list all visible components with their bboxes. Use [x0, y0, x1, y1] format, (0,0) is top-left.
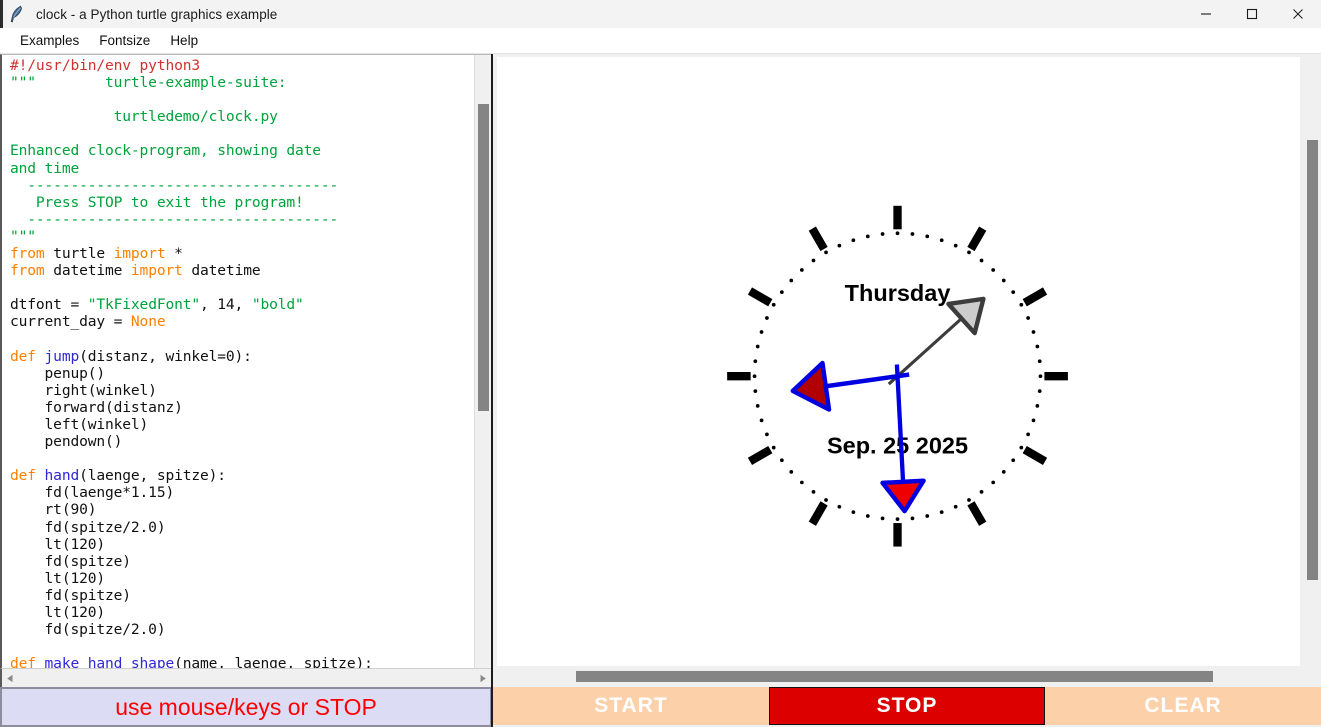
code-token: (laenge, spitze): [79, 467, 226, 484]
code-token: fd(spitze/2.0) [10, 621, 165, 638]
hour-hand-head [793, 363, 829, 410]
code-token: left(winkel) [10, 416, 148, 433]
minute-dot [954, 505, 958, 509]
hour-mark [971, 503, 983, 523]
stop-button[interactable]: STOP [769, 687, 1045, 725]
minute-dot [1019, 303, 1023, 307]
window-controls [1183, 0, 1321, 28]
code-token: penup() [10, 365, 105, 382]
minute-dot [1038, 359, 1042, 363]
minute-dot [1038, 389, 1042, 393]
clear-button[interactable]: CLEAR [1045, 687, 1321, 725]
code-token: fd(spitze/2.0) [10, 519, 165, 536]
code-token: "TkFixedFont" [88, 296, 200, 313]
code-vertical-scrollbar-thumb[interactable] [478, 104, 489, 411]
code-token: datetime [53, 262, 131, 279]
hour-mark [812, 229, 824, 249]
minute-dot [1026, 432, 1030, 436]
minute-hand-head [883, 481, 924, 511]
code-token: and time [10, 160, 79, 177]
code-token: pendown() [10, 433, 122, 450]
code-token: Press STOP to exit the program! [10, 194, 304, 211]
code-token: import [131, 262, 191, 279]
code-token: from [10, 245, 53, 262]
canvas-container: ThursdaySep. 25 2025 [491, 54, 1321, 666]
window-accent-stripe [0, 0, 3, 28]
weekday-label: Thursday [845, 280, 951, 306]
code-token: def [10, 348, 45, 365]
code-token: fd(spitze) [10, 587, 131, 604]
canvas-vertical-scrollbar[interactable] [1304, 54, 1321, 666]
code-pane: #!/usr/bin/env python3 """ turtle-exampl… [0, 54, 491, 727]
minute-dot [1032, 330, 1036, 334]
code-token: lt(120) [10, 570, 105, 587]
hour-mark [1025, 450, 1045, 462]
control-button-row: START STOP CLEAR [491, 686, 1321, 727]
code-token: ------------------------------------ [10, 177, 338, 194]
close-button[interactable] [1275, 0, 1321, 28]
hour-mark [1025, 291, 1045, 303]
minute-dot [967, 251, 971, 255]
minute-dot [1026, 316, 1030, 320]
source-code-text: #!/usr/bin/env python3 """ turtle-exampl… [10, 57, 474, 668]
code-token: lt(120) [10, 536, 105, 553]
code-token: def [10, 467, 45, 484]
minute-dot [911, 517, 915, 521]
hour-mark [750, 450, 770, 462]
code-token: lt(120) [10, 604, 105, 621]
minute-dot [881, 517, 885, 521]
code-token: forward(distanz) [10, 399, 183, 416]
code-token: turtledemo/clock.py [10, 108, 278, 125]
canvas-horizontal-scrollbar[interactable] [491, 666, 1321, 686]
hour-hand [793, 363, 909, 410]
minute-dot [753, 389, 757, 393]
code-token: def [10, 655, 45, 668]
minute-dot [756, 345, 760, 349]
status-bar: use mouse/keys or STOP [0, 687, 491, 727]
application-window: clock - a Python turtle graphics example… [0, 0, 1321, 727]
minute-dot [789, 470, 793, 474]
minute-dot [760, 419, 764, 423]
minute-dot [1002, 470, 1006, 474]
minute-dot [1032, 419, 1036, 423]
minute-dot [838, 244, 842, 248]
minute-dot [881, 232, 885, 236]
minute-dot [980, 259, 984, 263]
code-token: hand [45, 467, 80, 484]
turtle-canvas[interactable]: ThursdaySep. 25 2025 [497, 57, 1300, 666]
main-area: #!/usr/bin/env python3 """ turtle-exampl… [0, 54, 1321, 727]
minute-dot [824, 251, 828, 255]
minute-dot [800, 268, 804, 272]
hour-mark [971, 229, 983, 249]
code-token: (distanz, winkel=0): [79, 348, 252, 365]
minute-dot [896, 517, 900, 521]
code-token: fd(laenge*1.15) [10, 484, 174, 501]
code-token: dtfont = [10, 296, 88, 313]
minute-dot [1036, 345, 1040, 349]
second-hand-head [948, 299, 983, 333]
code-token: None [131, 313, 166, 330]
minute-dot [760, 330, 764, 334]
code-token: import [114, 245, 174, 262]
hour-mark [750, 291, 770, 303]
code-editor-container: #!/usr/bin/env python3 """ turtle-exampl… [0, 54, 491, 668]
minute-dot [851, 238, 855, 242]
minute-dot [991, 268, 995, 272]
minute-dot [1011, 458, 1015, 462]
minute-dot [991, 481, 995, 485]
code-token: fd(spitze) [10, 553, 131, 570]
code-token: #!/usr/bin/env python3 [10, 57, 200, 74]
minute-dot [911, 232, 915, 236]
minute-dot [1019, 446, 1023, 450]
minute-dot [980, 490, 984, 494]
menu-fontsize[interactable]: Fontsize [89, 31, 160, 50]
maximize-button[interactable] [1229, 0, 1275, 28]
second-hand [889, 299, 984, 384]
code-token: """ turtle-example-suite: [10, 74, 286, 91]
code-token: from [10, 262, 53, 279]
code-token: Enhanced clock-program, showing date [10, 142, 321, 159]
code-token: turtle [53, 245, 113, 262]
minute-dot [1011, 290, 1015, 294]
minute-dot [1039, 374, 1043, 378]
code-token: * [174, 245, 183, 262]
code-token: ------------------------------------ [10, 211, 338, 228]
minute-dot [838, 505, 842, 509]
status-bar-text: use mouse/keys or STOP [115, 694, 377, 721]
canvas-horizontal-scrollbar-thumb[interactable] [576, 671, 1214, 682]
minute-dot [954, 244, 958, 248]
code-token: """ [10, 228, 36, 245]
minute-dot [756, 404, 760, 408]
minute-dot [940, 510, 944, 514]
code-token: datetime [191, 262, 260, 279]
code-vertical-scrollbar[interactable] [474, 55, 491, 668]
code-token: right(winkel) [10, 382, 157, 399]
minute-dot [772, 303, 776, 307]
code-token: "bold" [252, 296, 304, 313]
minute-dot [925, 234, 929, 238]
minute-dot [866, 514, 870, 518]
title-bar: clock - a Python turtle graphics example [0, 0, 1321, 28]
minute-dot [925, 514, 929, 518]
minute-dot [780, 290, 784, 294]
minute-dot [765, 316, 769, 320]
canvas-pane: ThursdaySep. 25 2025 START STOP CLEAR [491, 54, 1321, 727]
minute-dot [812, 259, 816, 263]
code-hscroll-track[interactable] [19, 670, 474, 687]
minute-dot [753, 374, 757, 378]
start-button[interactable]: START [493, 687, 769, 725]
minute-dot [824, 498, 828, 502]
menu-examples[interactable]: Examples [10, 31, 89, 50]
hour-mark [812, 503, 824, 523]
window-title: clock - a Python turtle graphics example [36, 7, 277, 22]
code-token: (name, laenge, spitze): [174, 655, 373, 668]
menu-bar: Examples Fontsize Help [0, 28, 1321, 54]
scroll-left-icon[interactable] [2, 670, 19, 687]
scroll-right-icon[interactable] [474, 670, 491, 687]
minute-dot [1002, 279, 1006, 283]
minute-dot [780, 458, 784, 462]
code-token: rt(90) [10, 501, 96, 518]
date-label: Sep. 25 2025 [827, 433, 968, 459]
minute-dot [851, 510, 855, 514]
code-token: jump [45, 348, 80, 365]
minute-dot [800, 481, 804, 485]
canvas-vertical-scrollbar-thumb[interactable] [1307, 140, 1318, 581]
minute-dot [753, 359, 757, 363]
code-token: , 14, [200, 296, 252, 313]
minute-dot [896, 231, 900, 235]
code-horizontal-scrollbar[interactable] [0, 668, 491, 687]
feather-icon [0, 0, 34, 28]
minute-dot [1036, 404, 1040, 408]
minimize-button[interactable] [1183, 0, 1229, 28]
menu-help[interactable]: Help [160, 31, 208, 50]
minute-dot [866, 234, 870, 238]
code-token: make_hand_shape [45, 655, 175, 668]
minute-dot [765, 432, 769, 436]
clock-drawing: ThursdaySep. 25 2025 [498, 58, 1299, 665]
minute-dot [967, 498, 971, 502]
minute-dot [789, 279, 793, 283]
minute-dot [940, 238, 944, 242]
minute-dot [812, 490, 816, 494]
code-token: current_day = [10, 313, 131, 330]
source-code-view[interactable]: #!/usr/bin/env python3 """ turtle-exampl… [2, 55, 474, 668]
minute-dot [772, 446, 776, 450]
